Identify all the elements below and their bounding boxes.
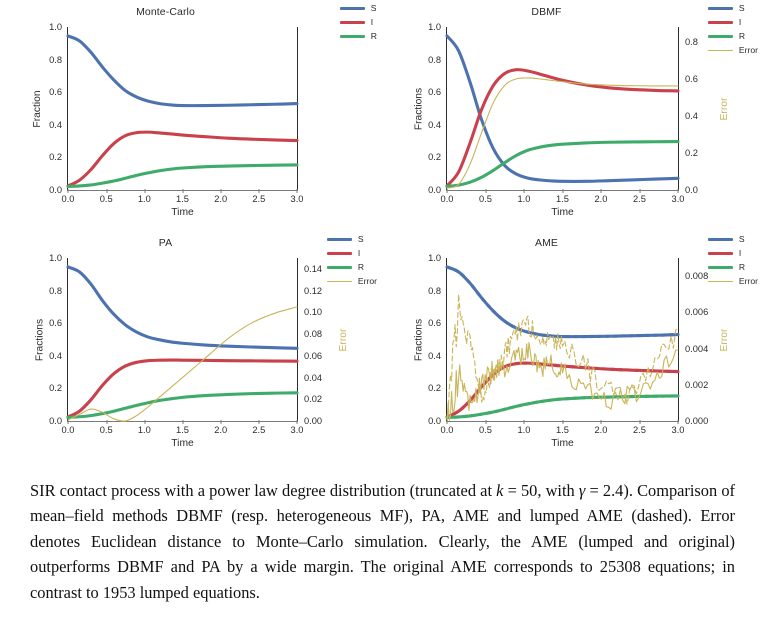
- curve-s: [68, 267, 297, 348]
- legend-item-error: Error: [327, 277, 377, 286]
- y-tick-label-left: 0.6: [428, 318, 441, 328]
- x-tick-mark: [68, 420, 69, 424]
- x-tick-label: 2.0: [214, 425, 227, 435]
- curve-i: [68, 132, 297, 186]
- y-tick-label-left: 1.0: [49, 253, 62, 263]
- y-tick-label-right: 0.04: [304, 373, 322, 383]
- y-tick-label-right: 0.10: [304, 307, 322, 317]
- x-tick-label: 2.0: [595, 425, 608, 435]
- x-axis-label: Time: [68, 438, 297, 449]
- y-tick-label-left: 0.2: [49, 152, 62, 162]
- x-tick-mark: [183, 420, 184, 424]
- y-tick-label-right: 0.12: [304, 286, 322, 296]
- legend-swatch-icon: [708, 7, 733, 10]
- x-tick-mark: [259, 189, 260, 193]
- x-tick-label: 1.0: [138, 425, 151, 435]
- y-tick-label-right: 0.14: [304, 264, 322, 274]
- legend-label: Error: [358, 277, 377, 286]
- legend-swatch-icon: [708, 281, 733, 282]
- curve-error-lumped-dashed: [447, 294, 678, 421]
- x-tick-label: 1.0: [138, 194, 151, 204]
- panel-ame: AME SIRError Fractions Error Time 0.00.5…: [381, 231, 762, 462]
- x-tick-mark: [106, 189, 107, 193]
- x-tick-mark: [106, 420, 107, 424]
- panel-title: PA: [30, 237, 301, 249]
- x-tick-label: 0.5: [479, 194, 492, 204]
- plot-area-monte-carlo: Fraction Time 0.00.51.01.52.02.53.00.00.…: [68, 27, 297, 190]
- curve-s: [447, 267, 678, 337]
- legend-ame: SIRError: [708, 235, 758, 286]
- y-tick-label-right: 0.08: [304, 329, 322, 339]
- curves-ame: [447, 258, 678, 421]
- x-tick-mark: [221, 189, 222, 193]
- panel-dbmf: DBMF SIRError Fractions Error Time 0.00.…: [381, 0, 762, 231]
- legend-item-r: R: [340, 32, 377, 41]
- legend-swatch-icon: [708, 50, 733, 51]
- plot-area-dbmf: Fractions Error Time 0.00.51.01.52.02.53…: [447, 27, 678, 190]
- y-tick-label-right: 0.02: [304, 394, 322, 404]
- y-tick-label-left: 0.0: [428, 416, 441, 426]
- curve-r: [68, 165, 297, 187]
- legend-swatch-icon: [708, 21, 733, 24]
- x-tick-mark: [601, 420, 602, 424]
- legend-label: I: [358, 249, 360, 258]
- y-tick-label-left: 0.4: [49, 351, 62, 361]
- caption-segment: = 50, with: [503, 481, 578, 500]
- y-tick-label-left: 0.2: [428, 152, 441, 162]
- y-axis-label-right: Error: [719, 97, 730, 120]
- legend-label: R: [371, 32, 377, 41]
- legend-label: S: [739, 4, 745, 13]
- legend-label: R: [739, 263, 745, 272]
- legend-item-i: I: [708, 249, 758, 258]
- legend-swatch-icon: [708, 35, 733, 38]
- curves-pa: [68, 258, 297, 421]
- x-tick-label: 1.0: [518, 425, 531, 435]
- legend-label: S: [358, 235, 364, 244]
- x-tick-label: 0.0: [441, 425, 454, 435]
- y-axis-label-right: Error: [719, 328, 730, 351]
- legend-pa: SIRError: [327, 235, 377, 286]
- y-tick-label-left: 0.8: [49, 55, 62, 65]
- y-tick-label-left: 0.8: [428, 55, 441, 65]
- x-tick-label: 1.5: [556, 425, 569, 435]
- x-tick-label: 0.5: [479, 425, 492, 435]
- y-axis-label: Fractions: [414, 318, 425, 360]
- x-tick-mark: [183, 189, 184, 193]
- legend-item-s: S: [327, 235, 377, 244]
- y-tick-label-left: 0.2: [428, 383, 441, 393]
- x-tick-mark: [447, 189, 448, 193]
- y-tick-label-left: 1.0: [428, 253, 441, 263]
- y-tick-label-left: 0.0: [49, 185, 62, 195]
- legend-item-error: Error: [708, 277, 758, 286]
- y-tick-label-left: 0.8: [428, 286, 441, 296]
- y-tick-label-right: 0.06: [304, 351, 322, 361]
- x-tick-mark: [68, 189, 69, 193]
- x-tick-label: 2.0: [595, 194, 608, 204]
- caption-segment: SIR contact process with a power law deg…: [30, 481, 496, 500]
- legend-swatch-icon: [340, 21, 365, 24]
- y-tick-label-left: 0.0: [428, 185, 441, 195]
- legend-label: R: [358, 263, 364, 272]
- y-tick-label-left: 0.4: [49, 120, 62, 130]
- x-tick-label: 0.0: [62, 194, 75, 204]
- curve-i: [447, 70, 678, 186]
- x-tick-mark: [297, 189, 298, 193]
- legend-item-error: Error: [708, 46, 758, 55]
- x-tick-mark: [485, 420, 486, 424]
- curve-error: [447, 78, 678, 188]
- y-tick-label-left: 0.4: [428, 120, 441, 130]
- panel-monte-carlo: Monte-Carlo SIR Fraction Time 0.00.51.01…: [0, 0, 381, 231]
- legend-label: Error: [739, 277, 758, 286]
- panel-pa: PA SIRError Fractions Error Time 0.00.51…: [0, 231, 381, 462]
- x-tick-label: 2.5: [633, 194, 646, 204]
- legend-label: S: [739, 235, 745, 244]
- legend-swatch-icon: [327, 238, 352, 241]
- x-tick-label: 3.0: [291, 194, 304, 204]
- panel-title: Monte-Carlo: [30, 6, 301, 18]
- legend-label: Error: [739, 46, 758, 55]
- y-tick-label-left: 0.6: [428, 87, 441, 97]
- legend-item-r: R: [708, 32, 758, 41]
- y-tick-label-left: 1.0: [49, 22, 62, 32]
- legend-item-s: S: [340, 4, 377, 13]
- curve-s: [68, 36, 297, 106]
- legend-swatch-icon: [327, 266, 352, 269]
- curves-dbmf: [447, 27, 678, 190]
- legend-label: R: [739, 32, 745, 41]
- legend-swatch-icon: [327, 281, 352, 282]
- x-tick-label: 1.5: [176, 425, 189, 435]
- y-tick-label-right: 0.004: [685, 344, 708, 354]
- y-tick-label-left: 0.0: [49, 416, 62, 426]
- x-tick-mark: [524, 420, 525, 424]
- legend-item-i: I: [708, 18, 758, 27]
- y-tick-label-right: 0.00: [304, 416, 322, 426]
- y-tick-label-right: 0.000: [685, 416, 708, 426]
- legend-swatch-icon: [340, 7, 365, 10]
- x-tick-mark: [678, 189, 679, 193]
- x-tick-label: 2.0: [214, 194, 227, 204]
- y-tick-label-right: 0.006: [685, 307, 708, 317]
- x-tick-mark: [678, 420, 679, 424]
- y-axis-label-right: Error: [338, 328, 349, 351]
- figure-panel-grid: Monte-Carlo SIR Fraction Time 0.00.51.01…: [0, 0, 762, 462]
- legend-item-s: S: [708, 4, 758, 13]
- y-axis-label: Fraction: [32, 90, 43, 127]
- curve-error: [447, 343, 678, 421]
- y-tick-label-right: 0.2: [685, 148, 698, 158]
- x-tick-mark: [563, 189, 564, 193]
- legend-swatch-icon: [340, 35, 365, 38]
- x-tick-label: 3.0: [672, 194, 685, 204]
- y-tick-label-left: 0.4: [428, 351, 441, 361]
- x-tick-label: 0.5: [100, 425, 113, 435]
- y-tick-label-right: 0.002: [685, 380, 708, 390]
- x-tick-mark: [447, 420, 448, 424]
- legend-swatch-icon: [327, 252, 352, 255]
- x-tick-label: 1.0: [518, 194, 531, 204]
- x-axis-label: Time: [447, 438, 678, 449]
- legend-label: I: [739, 249, 741, 258]
- legend-item-i: I: [327, 249, 377, 258]
- legend-item-i: I: [340, 18, 377, 27]
- x-tick-label: 2.5: [252, 425, 265, 435]
- legend-item-r: R: [327, 263, 377, 272]
- x-tick-mark: [485, 189, 486, 193]
- x-tick-label: 2.5: [633, 425, 646, 435]
- x-tick-label: 3.0: [291, 425, 304, 435]
- legend-dbmf: SIRError: [708, 4, 758, 55]
- x-axis-label: Time: [447, 207, 678, 218]
- curves-monte-carlo: [68, 27, 297, 190]
- x-tick-label: 1.5: [556, 194, 569, 204]
- y-axis-label: Fractions: [414, 87, 425, 129]
- plot-area-ame: Fractions Error Time 0.00.51.01.52.02.53…: [447, 258, 678, 421]
- legend-monte-carlo: SIR: [340, 4, 377, 41]
- x-tick-mark: [297, 420, 298, 424]
- x-tick-mark: [640, 189, 641, 193]
- y-tick-label-right: 0.6: [685, 74, 698, 84]
- y-tick-label-left: 0.6: [49, 87, 62, 97]
- x-tick-label: 0.5: [100, 194, 113, 204]
- x-tick-label: 2.5: [252, 194, 265, 204]
- y-tick-label-left: 0.8: [49, 286, 62, 296]
- x-tick-mark: [563, 420, 564, 424]
- y-tick-label-right: 0.008: [685, 271, 708, 281]
- curve-error: [68, 307, 297, 421]
- figure-caption: SIR contact process with a power law deg…: [30, 478, 735, 605]
- curve-i: [68, 360, 297, 417]
- x-tick-label: 1.5: [176, 194, 189, 204]
- x-axis-label: Time: [68, 207, 297, 218]
- x-tick-mark: [524, 189, 525, 193]
- legend-item-r: R: [708, 263, 758, 272]
- y-tick-label-right: 0.4: [685, 111, 698, 121]
- curve-r: [68, 393, 297, 418]
- x-tick-mark: [221, 420, 222, 424]
- legend-swatch-icon: [708, 238, 733, 241]
- x-tick-mark: [640, 420, 641, 424]
- y-tick-label-left: 0.6: [49, 318, 62, 328]
- x-tick-label: 3.0: [672, 425, 685, 435]
- x-tick-label: 0.0: [62, 425, 75, 435]
- curve-s-lumped-dashed: [447, 267, 678, 337]
- x-tick-label: 0.0: [441, 194, 454, 204]
- x-tick-mark: [144, 189, 145, 193]
- panel-title: AME: [411, 237, 682, 249]
- y-tick-label-left: 0.2: [49, 383, 62, 393]
- x-tick-mark: [259, 420, 260, 424]
- panel-title: DBMF: [411, 6, 682, 18]
- x-tick-mark: [601, 189, 602, 193]
- x-tick-mark: [144, 420, 145, 424]
- legend-label: S: [371, 4, 377, 13]
- plot-area-pa: Fractions Error Time 0.00.51.01.52.02.53…: [68, 258, 297, 421]
- y-axis-label: Fractions: [35, 318, 46, 360]
- y-tick-label-right: 0.8: [685, 37, 698, 47]
- y-tick-label-left: 1.0: [428, 22, 441, 32]
- y-tick-label-right: 0.0: [685, 185, 698, 195]
- legend-label: I: [739, 18, 741, 27]
- legend-swatch-icon: [708, 266, 733, 269]
- legend-swatch-icon: [708, 252, 733, 255]
- legend-label: I: [371, 18, 373, 27]
- legend-item-s: S: [708, 235, 758, 244]
